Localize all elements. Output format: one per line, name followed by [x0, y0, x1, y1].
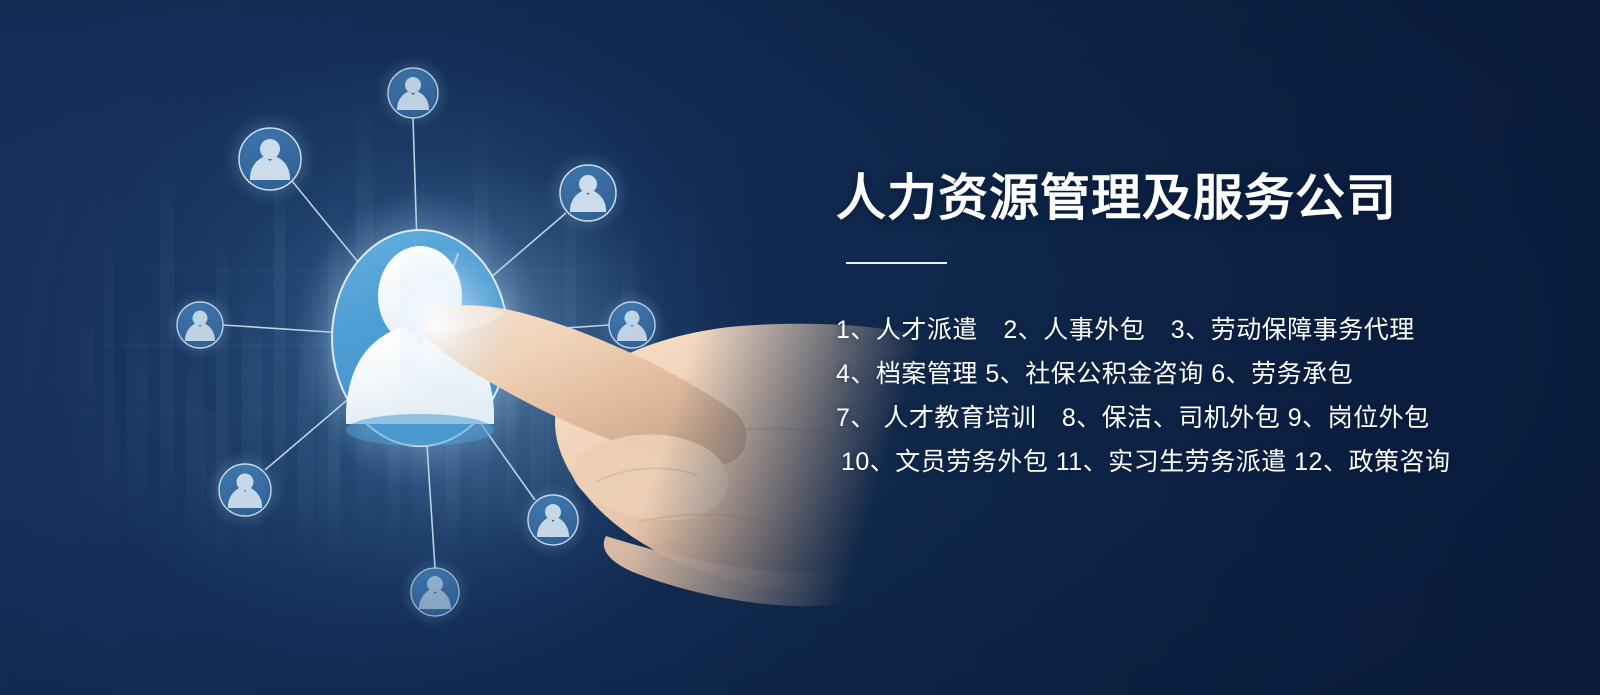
page-title: 人力资源管理及服务公司 [836, 158, 1397, 230]
hr-services-banner: 人力资源管理及服务公司 1、人才派遣 2、人事外包 3、劳动保障事务代理 4、档… [0, 0, 1600, 695]
service-line: 4、档案管理 5、社保公积金咨询 6、劳务承包 [836, 352, 1516, 396]
service-line: 1、人才派遣 2、人事外包 3、劳动保障事务代理 [836, 308, 1516, 352]
service-line: 7、 人才教育培训 8、保洁、司机外包 9、岗位外包 [836, 396, 1516, 440]
service-list: 1、人才派遣 2、人事外包 3、劳动保障事务代理 4、档案管理 5、社保公积金咨… [836, 308, 1516, 484]
service-line: 10、文员劳务外包 11、实习生劳务派遣 12、政策咨询 [836, 440, 1516, 484]
title-divider [846, 262, 947, 264]
banner-content: 人力资源管理及服务公司 1、人才派遣 2、人事外包 3、劳动保障事务代理 4、档… [836, 0, 1536, 695]
